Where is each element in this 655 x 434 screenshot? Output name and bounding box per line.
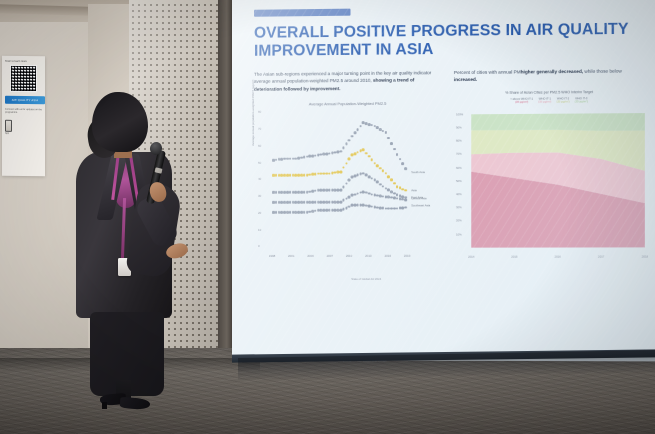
line-chart-point [348,139,351,142]
line-chart-point [339,150,342,153]
area-y-axis-tick: 20% [456,219,462,223]
line-chart-point [401,163,404,166]
line-chart-point [385,172,388,175]
line-chart-point [390,142,393,145]
y-axis-tick: 80 [258,110,261,114]
screenshot-stage: Scan to learn more AIR QUALITY ASIA Conn… [0,0,655,434]
area-x-axis-tick: 2014 [468,255,474,259]
line-chart-series-label: Southeast Asia [411,203,430,207]
poster-icon-label: App [5,133,42,136]
x-axis-tick: 2004 [307,254,313,258]
speaker-shoe-heel [102,402,107,409]
phone-icon [5,120,12,132]
area-y-axis-tick: 50% [456,179,462,183]
area-chart-plot: 10%20%30%40%50%60%70%80%90%100%201420152… [471,113,645,248]
right-lead-text: Percent of cities with annual PMhigher g… [454,67,645,84]
line-chart-series-label: South Asia [411,170,425,174]
line-chart-point [275,159,278,162]
x-axis-tick: 2007 [327,254,333,258]
poster-caption: Scan to learn more [5,60,42,64]
line-chart-point [303,201,306,204]
right-lead-plain-2: while those below [583,68,622,73]
area-chart-svg [471,113,645,248]
legend-value: (35 µg/m³) [538,100,551,103]
line-chart-point [404,198,407,201]
line-chart-point [303,191,306,194]
line-chart-point [370,158,373,161]
right-lead-plain-1: Percent of cities with annual PM [454,69,521,75]
area-y-axis-tick: 100% [456,112,463,116]
line-chart-point [356,128,359,131]
area-chart-legend-item: WHO IT-1(35 µg/m³) [538,97,551,103]
line-chart-point [365,152,368,155]
line-chart-point [385,131,388,134]
line-chart-point [399,158,402,161]
y-axis-tick: 20 [258,211,261,215]
line-chart-point [289,201,292,204]
line-chart-point [404,206,407,209]
line-chart-point [289,174,292,177]
y-axis-tick: 0 [258,244,260,248]
x-axis-tick: 2016 [384,254,391,258]
area-chart-plot-wrap: 10%20%30%40%50%60%70%80%90%100%201420152… [454,109,645,262]
line-chart-point [353,132,356,135]
line-chart-point [339,189,342,192]
y-axis-tick: 60 [258,144,261,148]
line-chart-point [289,157,292,160]
line-chart-point [342,146,345,149]
line-chart-point [303,211,306,214]
line-chart-ylabel: Average annual population-weighted PM2.5… [251,80,255,146]
line-chart-point [404,189,407,192]
area-y-axis-tick: 10% [456,232,462,236]
line-chart-point [370,177,373,180]
poster-banner: AIR QUALITY ASIA [5,96,45,105]
line-chart-point [275,174,278,177]
line-chart-point [342,166,345,169]
right-column: Percent of cities with annual PMhigher g… [454,67,645,262]
slide-title: OVERALL POSITIVE PROGRESS IN AIR QUALITY… [254,20,645,59]
line-chart-point [289,191,292,194]
line-chart-point [348,179,351,182]
line-chart-series-label: Central Asia [411,197,426,201]
line-chart-point [303,174,306,177]
y-axis-tick: 70 [258,127,261,131]
area-chart-band [471,113,645,132]
x-axis-tick: 2010 [346,254,352,258]
line-chart-point [362,148,365,151]
line-chart-point [342,186,345,189]
line-chart-point [359,125,362,128]
title-rule [254,9,351,17]
poster-subcaption: Connect with us for updates on the progr… [5,108,42,115]
area-x-axis-tick: 2018 [642,254,648,258]
line-chart-point [275,201,278,204]
speaker-hair [92,92,148,152]
area-y-axis-tick: 90% [456,126,462,130]
line-chart-point [345,143,348,146]
line-chart: Average Annual Population-Weighted PM2.5… [254,101,442,263]
line-chart-point [382,169,385,172]
line-chart-point [370,124,373,127]
left-lead-text: The Asian sub-regions experienced a majo… [254,69,442,93]
line-chart-point [328,201,331,204]
line-chart-point [356,174,359,177]
qr-code-icon [10,65,37,92]
line-chart-point [345,162,348,165]
area-chart-title: % Share of Asian Cities per PM2.5 WHO In… [454,90,645,96]
line-chart-point [289,211,292,214]
line-chart-point [328,189,331,192]
line-chart-point [351,135,354,138]
x-axis-tick: 2001 [288,254,294,258]
line-chart-series-label: Asia [411,188,417,192]
area-chart: % Share of Asian Cities per PM2.5 WHO In… [454,90,645,262]
right-lead-bold-3: increased. [454,77,477,82]
area-chart-legend: > above WHO IT-1(35 µg/m³)WHO IT-1(35 µg… [454,97,645,105]
area-chart-legend-item: WHO IT-2(25 µg/m³) [556,97,569,103]
area-chart-legend-item: WHO IT-3(15 µg/m³) [575,97,588,103]
line-chart-point [356,192,359,195]
line-chart-point [393,182,396,185]
line-chart-point [356,151,359,154]
area-y-axis-tick: 40% [456,192,462,196]
legend-value: (25 µg/m³) [556,100,569,103]
line-chart-point [393,148,396,151]
line-chart-point [390,179,393,182]
area-chart-legend-item: > above WHO IT-1(35 µg/m³) [510,98,533,104]
area-y-axis-tick: 60% [456,166,462,170]
legend-value: (35 µg/m³) [510,101,533,104]
line-chart-point [387,175,390,178]
line-chart-title: Average Annual Population-Weighted PM2.5 [254,101,442,107]
wall-poster: Scan to learn more AIR QUALITY ASIA Conn… [2,56,45,177]
area-y-axis-tick: 70% [456,152,462,156]
x-axis-tick: 2013 [365,254,372,258]
presentation-slide: OVERALL POSITIVE PROGRESS IN AIR QUALITY… [232,0,655,361]
line-chart-point [396,153,399,156]
right-lead-bold-1: higher [521,69,535,74]
area-y-axis-tick: 30% [456,206,462,210]
left-column: The Asian sub-regions experienced a majo… [254,69,442,262]
area-x-axis-tick: 2016 [555,254,561,258]
right-lead-bold-2: generally decreased, [536,69,583,74]
y-axis-tick: 40 [258,177,261,181]
x-axis-tick: 2019 [404,254,411,258]
line-chart-point [345,182,348,185]
line-chart-point [404,167,407,170]
y-axis-tick: 30 [258,194,261,198]
area-x-axis-tick: 2015 [511,255,517,259]
line-chart-plot: 0102030405060708019982001200420072010201… [272,111,407,246]
projection-screen: OVERALL POSITIVE PROGRESS IN AIR QUALITY… [232,0,655,361]
legend-value: (15 µg/m³) [575,100,588,103]
slide-columns: The Asian sub-regions experienced a majo… [254,67,645,262]
line-chart-point [342,199,345,202]
y-axis-tick: 10 [258,227,261,231]
line-chart-point [368,155,371,158]
line-chart-point [348,158,351,161]
line-chart-point [275,211,278,214]
area-y-axis-tick: 80% [456,139,462,143]
line-chart-point [387,137,390,140]
area-x-axis-tick: 2017 [598,254,604,258]
y-axis-tick: 50 [258,160,261,164]
line-chart-point [342,208,345,211]
poster-banner-text: AIR QUALITY ASIA [12,99,39,102]
line-chart-point [339,170,342,173]
line-chart-xlabel: State of Global Air 2024 [351,277,381,281]
line-chart-point [303,156,306,159]
line-chart-point [356,204,359,207]
line-chart-point [370,193,373,196]
line-chart-point [370,205,373,208]
line-chart-point [275,191,278,194]
speaker [58,92,190,392]
x-axis-tick: 1998 [269,254,275,258]
